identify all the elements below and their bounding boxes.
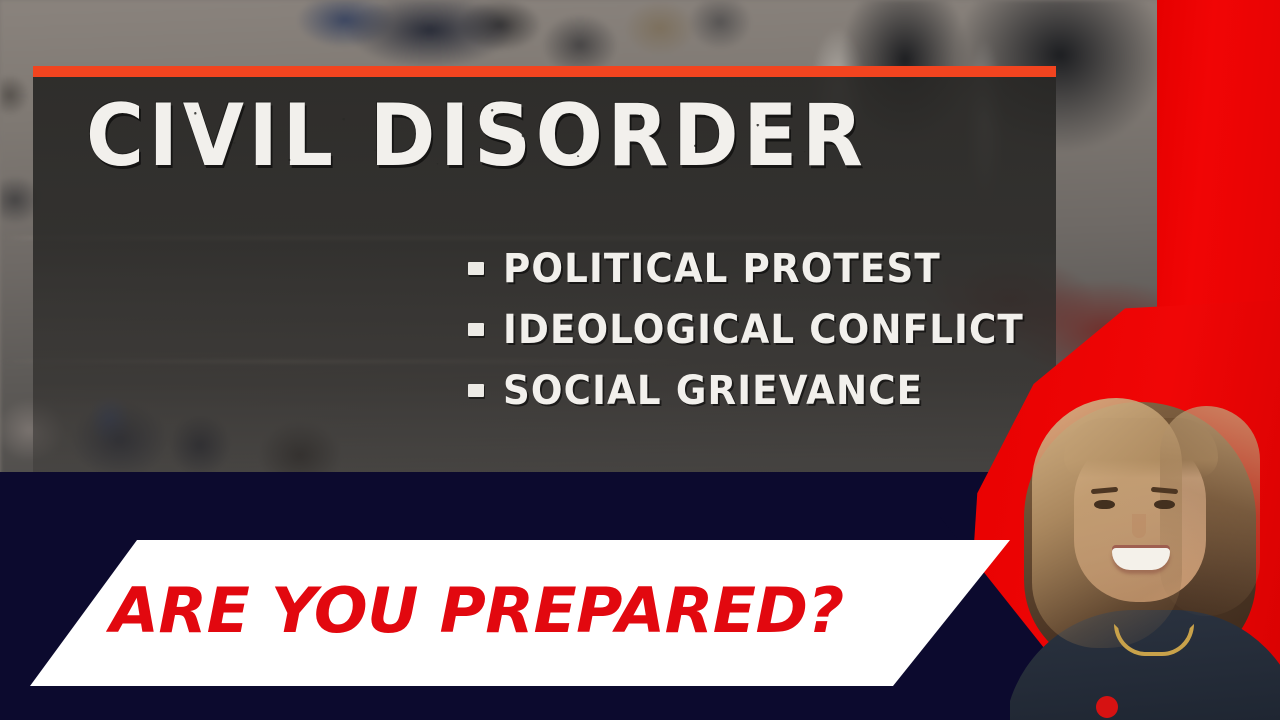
list-item-label: IDEOLOGICAL CONFLICT xyxy=(503,309,1024,351)
call-to-action-text: ARE YOU PREPARED? xyxy=(110,578,844,644)
presenter-eye-left xyxy=(1094,500,1115,509)
page-title: CIVIL DISORDER xyxy=(86,93,867,179)
list-item: POLITICAL PROTEST xyxy=(468,238,1028,299)
list-item-label: POLITICAL PROTEST xyxy=(503,248,941,290)
presenter-eye-right xyxy=(1154,500,1175,509)
presenter-hair-highlight-right xyxy=(1160,406,1260,616)
square-bullet-icon xyxy=(468,262,484,275)
list-item: IDEOLOGICAL CONFLICT xyxy=(468,299,1028,360)
square-bullet-icon xyxy=(468,323,484,336)
square-bullet-icon xyxy=(468,384,484,397)
list-item: SOCIAL GRIEVANCE xyxy=(468,360,1028,421)
bullet-list: POLITICAL PROTEST IDEOLOGICAL CONFLICT S… xyxy=(468,238,1028,421)
presenter-nose xyxy=(1132,514,1146,538)
panel-top-accent-rule xyxy=(33,66,1056,77)
presenter-red-accent xyxy=(1096,696,1118,718)
video-thumbnail: CIVIL DISORDER POLITICAL PROTEST IDEOLOG… xyxy=(0,0,1280,720)
presenter-smile xyxy=(1112,548,1170,570)
presenter-portrait xyxy=(1010,396,1280,720)
list-item-label: SOCIAL GRIEVANCE xyxy=(503,370,923,412)
